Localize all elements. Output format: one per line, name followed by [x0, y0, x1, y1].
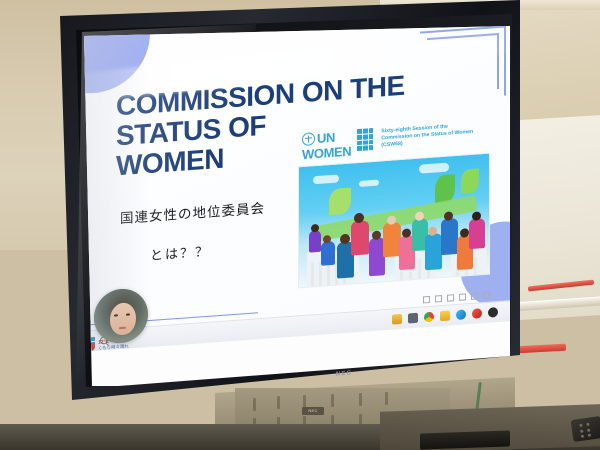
japanese-subtitle: 国連女性の地位委員会	[120, 197, 265, 227]
normal-view-icon[interactable]	[447, 294, 454, 302]
app-icon-2[interactable]	[408, 313, 418, 324]
cabinet-badge-label: NEC	[302, 407, 324, 415]
wall-mounted-monitor: COMMISSION ON THE STATUS OF WOMEN 国連女性の地…	[52, 0, 524, 400]
avatar-eye-left	[114, 314, 118, 316]
monitor-screen[interactable]: COMMISSION ON THE STATUS OF WOMEN 国連女性の地…	[80, 26, 512, 386]
csw68-illustration	[298, 153, 490, 289]
mail-icon[interactable]	[440, 310, 450, 321]
powerpoint-slide[interactable]: COMMISSION ON THE STATUS OF WOMEN 国連女性の地…	[80, 26, 512, 352]
un-emblem-icon	[302, 132, 315, 146]
notes-icon[interactable]	[423, 295, 430, 303]
tv-remote	[571, 416, 600, 442]
decorative-circle-top-left	[80, 26, 150, 97]
chrome-icon[interactable]	[424, 312, 434, 323]
avatar-eye-right	[126, 313, 130, 315]
app-icon-7[interactable]	[488, 307, 498, 318]
un-brand-line-1: UN	[317, 131, 335, 143]
slide-sorter-icon[interactable]	[459, 293, 466, 301]
keyboard	[420, 430, 510, 449]
file-explorer-icon[interactable]	[392, 314, 402, 325]
reading-view-icon[interactable]	[471, 292, 478, 300]
monitor-brand-logo: NEC	[327, 370, 361, 382]
comments-icon[interactable]	[435, 295, 442, 303]
cabinet-badge: NEC	[302, 407, 324, 415]
slideshow-icon[interactable]	[483, 291, 490, 299]
un-women-wordmark: UN WOMEN	[302, 129, 351, 165]
room-scene: NEC	[0, 0, 600, 450]
decorative-corner-bracket	[420, 26, 506, 102]
un-women-grid-icon	[357, 128, 373, 151]
edge-icon[interactable]	[456, 309, 466, 320]
un-women-tagline: Sixty-eighth Session of the Commission o…	[381, 122, 477, 150]
app-icon-6[interactable]	[472, 308, 482, 319]
un-brand-line-2: WOMEN	[302, 144, 351, 163]
japanese-question: とは？？	[150, 241, 210, 264]
